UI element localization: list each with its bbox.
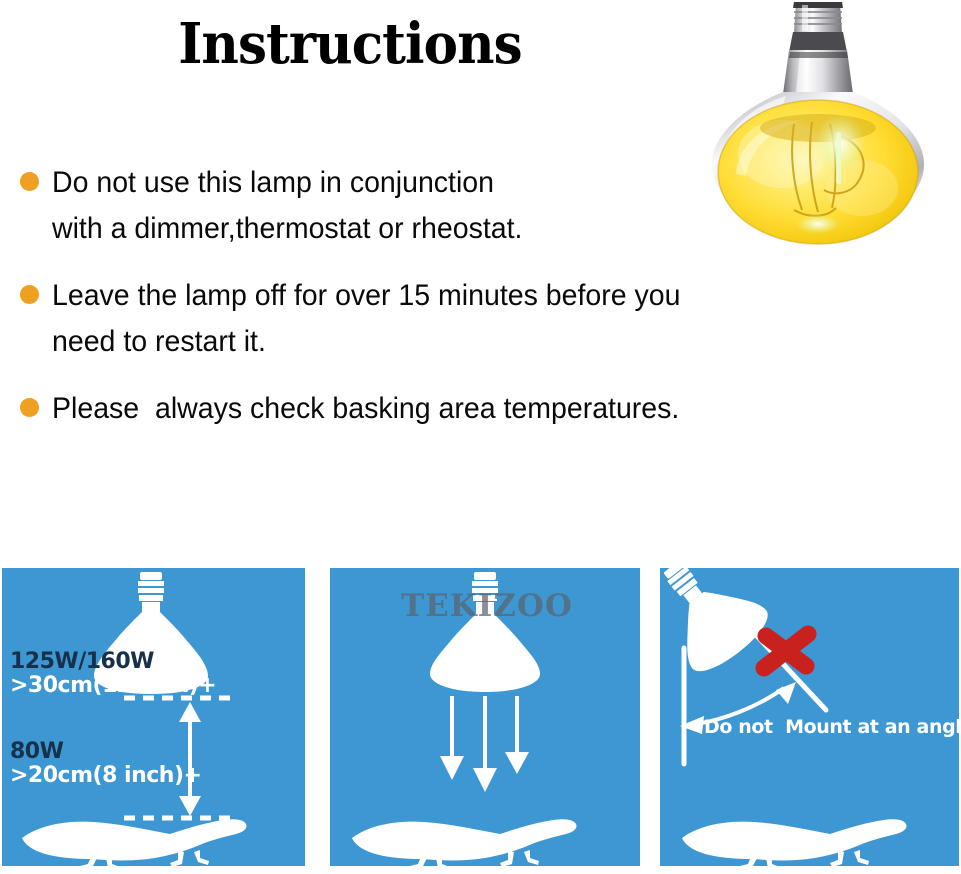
spec-group-low-wattage: 80W >20cm(8 inch)+	[10, 740, 201, 788]
panel-angle-warning: Do not Mount at an angle	[660, 568, 959, 866]
bulb-screw-base	[793, 2, 843, 32]
instruction-text: Leave the lamp off for over 15 minutes b…	[52, 273, 916, 364]
lizard-silhouette-icon	[352, 819, 577, 866]
spec-wattage: 125W/160W	[10, 650, 216, 674]
orange-dot-bullet-icon	[20, 172, 39, 191]
spec-group-high-wattage: 125W/160W >30cm(12 inch)+	[10, 650, 216, 698]
bulb-neck	[783, 32, 853, 94]
instruction-text: Please always check basking area tempera…	[52, 386, 916, 432]
page-title: Instructions	[28, 16, 672, 72]
spec-distance: >30cm(12 inch)+	[10, 674, 216, 698]
instruction-text: Do not use this lamp in conjunction with…	[52, 160, 916, 251]
spec-distance: >20cm(8 inch)+	[10, 764, 201, 788]
instruction-item: Leave the lamp off for over 15 minutes b…	[0, 273, 961, 364]
diagram-panel-row: 125W/160W >30cm(12 inch)+ 80W >20cm(8 in…	[0, 568, 961, 868]
instruction-item: Do not use this lamp in conjunction with…	[0, 160, 961, 251]
tekizoo-watermark: TEKIZOO	[382, 588, 592, 624]
instruction-list: Do not use this lamp in conjunction with…	[0, 160, 961, 454]
orange-dot-bullet-icon	[20, 285, 39, 304]
light-ray-arrows	[440, 696, 529, 792]
orange-dot-bullet-icon	[20, 398, 39, 417]
instruction-item: Please always check basking area tempera…	[0, 386, 961, 432]
panel-direct-mounting: TEKIZOO	[330, 568, 640, 866]
angle-warning-caption: Do not Mount at an angle	[704, 716, 959, 738]
lizard-silhouette-icon	[22, 819, 247, 866]
panel-mounting-distance: 125W/160W >30cm(12 inch)+ 80W >20cm(8 in…	[2, 568, 305, 866]
lizard-silhouette-icon	[682, 819, 907, 866]
spec-wattage: 80W	[10, 740, 201, 764]
